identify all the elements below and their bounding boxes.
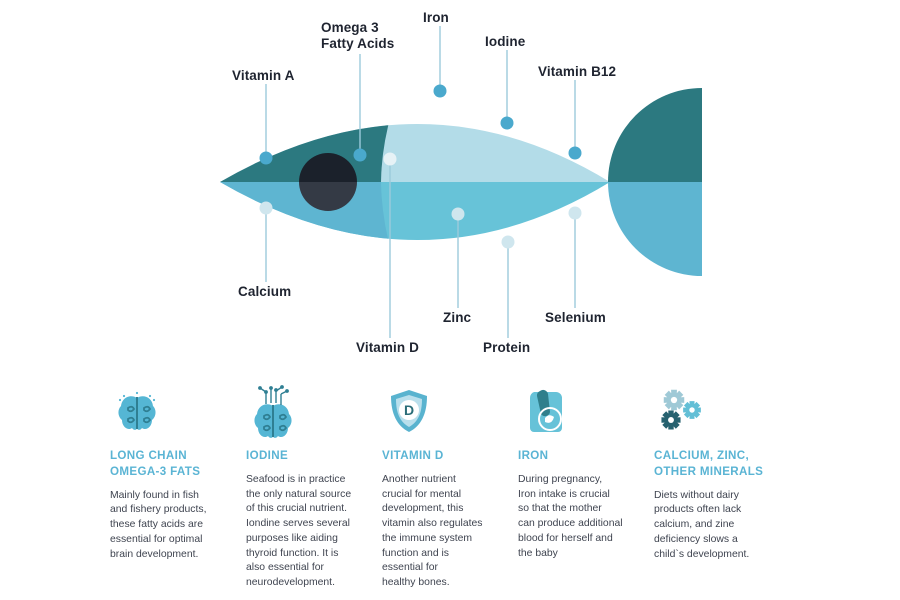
callout-label-calcium: Calcium — [238, 284, 291, 300]
card-calcium-zinc-other-minerals: CALCIUM, ZINC, OTHER MINERALSDiets witho… — [654, 382, 790, 597]
infographic-root: Vitamin AOmega 3 Fatty AcidsIronIodineVi… — [0, 0, 900, 600]
callout-dot-vitamin-a[interactable] — [260, 152, 273, 165]
card-iron: IRONDuring pregnancy, Iron intake is cru… — [518, 382, 654, 597]
callout-label-iron: Iron — [423, 10, 449, 26]
fish-tail-lower — [600, 182, 710, 284]
card-icon-long-chain-omega-3-fats — [110, 382, 232, 438]
card-vitamin-d: DVITAMIN DAnother nutrient crucial for m… — [382, 382, 518, 597]
card-icon-iodine — [246, 382, 368, 438]
callout-dot-calcium[interactable] — [260, 202, 273, 215]
card-body-iron: During pregnancy, Iron intake is crucial… — [518, 473, 640, 562]
fish-head-lower — [200, 182, 413, 312]
card-title-iron: IRON — [518, 448, 640, 464]
card-body-long-chain-omega-3-fats: Mainly found in fish and fishery product… — [110, 489, 232, 563]
nutrient-cards: LONG CHAIN OMEGA-3 FATSMainly found in f… — [110, 382, 790, 597]
callout-label-vitamin-b12: Vitamin B12 — [538, 64, 616, 80]
callout-dot-iodine[interactable] — [501, 117, 514, 130]
gears-icon — [654, 384, 708, 438]
callout-label-selenium: Selenium — [545, 310, 606, 326]
callout-dot-protein[interactable] — [502, 236, 515, 249]
callout-label-omega-3: Omega 3 Fatty Acids — [321, 20, 394, 53]
card-title-long-chain-omega-3-fats: LONG CHAIN OMEGA-3 FATS — [110, 448, 232, 480]
callout-dot-omega-3[interactable] — [354, 149, 367, 162]
callout-label-vitamin-a: Vitamin A — [232, 68, 294, 84]
svg-text:D: D — [404, 402, 414, 418]
fish-tail — [600, 80, 710, 284]
fish-tail-upper — [600, 80, 710, 182]
callout-label-protein: Protein — [483, 340, 530, 356]
fish-diagram: Vitamin AOmega 3 Fatty AcidsIronIodineVi… — [0, 0, 900, 370]
fish-body — [200, 60, 630, 312]
card-title-vitamin-d: VITAMIN D — [382, 448, 504, 464]
card-body-iodine: Seafood is in practice the only natural … — [246, 473, 368, 591]
callout-label-vitamin-d: Vitamin D — [356, 340, 419, 356]
card-icon-calcium-zinc-other-minerals — [654, 382, 776, 438]
card-long-chain-omega-3-fats: LONG CHAIN OMEGA-3 FATSMainly found in f… — [110, 382, 246, 597]
pregnant-woman-icon — [518, 384, 572, 438]
card-title-calcium-zinc-other-minerals: CALCIUM, ZINC, OTHER MINERALS — [654, 448, 776, 480]
card-body-calcium-zinc-other-minerals: Diets without dairy products often lack … — [654, 489, 776, 563]
card-icon-iron — [518, 382, 640, 438]
card-body-vitamin-d: Another nutrient crucial for mental deve… — [382, 473, 504, 591]
callout-dot-vitamin-d[interactable] — [384, 153, 397, 166]
callout-dot-iron[interactable] — [434, 85, 447, 98]
card-iodine: IODINESeafood is in practice the only na… — [246, 382, 382, 597]
brain-icon — [110, 384, 164, 438]
callout-label-zinc: Zinc — [443, 310, 471, 326]
callout-label-iodine: Iodine — [485, 34, 525, 50]
shield-d-icon: D — [382, 384, 436, 438]
brain-circuit-icon — [246, 384, 300, 438]
callout-dot-vitamin-b12[interactable] — [569, 147, 582, 160]
callout-dot-selenium[interactable] — [569, 207, 582, 220]
card-icon-vitamin-d: D — [382, 382, 504, 438]
card-title-iodine: IODINE — [246, 448, 368, 464]
callout-dot-zinc[interactable] — [452, 208, 465, 221]
